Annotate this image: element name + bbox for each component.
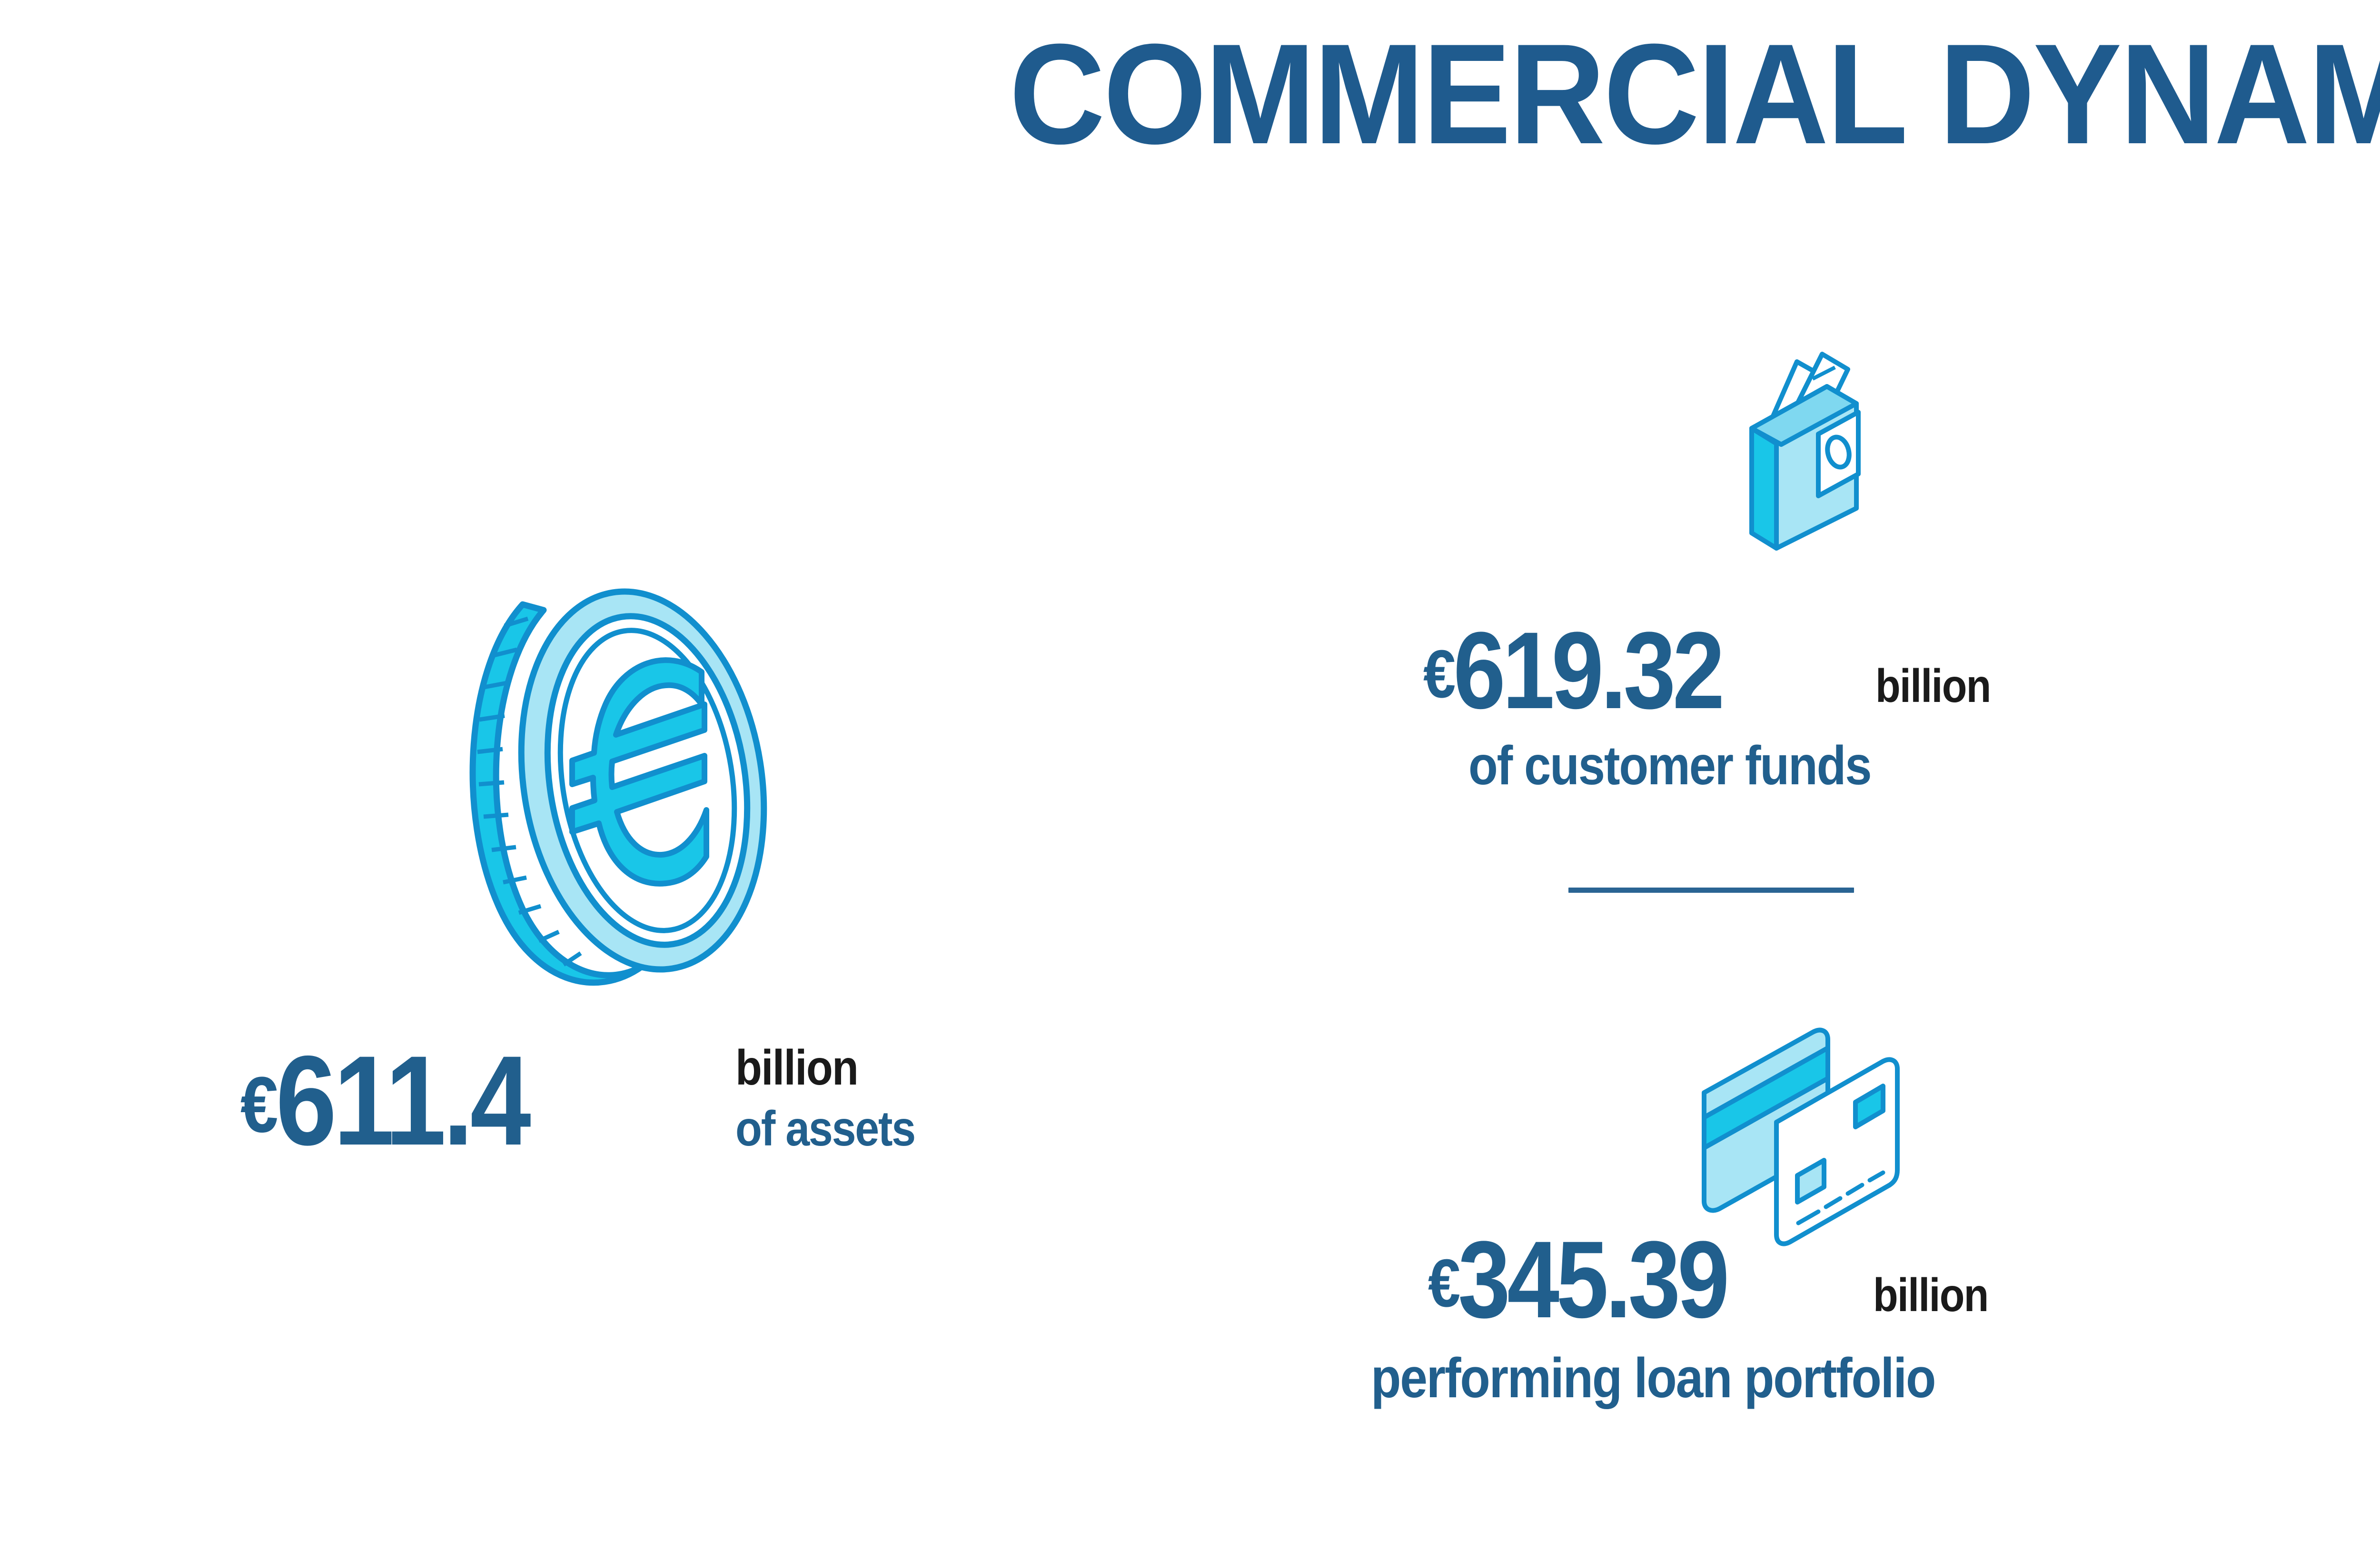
loan-portfolio-unit-wrap: billion bbox=[1873, 1268, 2004, 1322]
loan-portfolio-amount: 345.39 bbox=[1458, 1218, 1726, 1341]
assets-value: €611.4 bbox=[240, 1040, 575, 1161]
customer-funds-value: €619.32 bbox=[1423, 619, 1770, 723]
divider-center bbox=[1568, 888, 1854, 893]
credit-cards-icon bbox=[1676, 999, 1942, 1247]
wallet-icon bbox=[1699, 333, 1899, 571]
assets-unit: billion bbox=[735, 1040, 915, 1096]
loan-category-businesses: Businesses €27.70billion bbox=[2351, 1037, 2380, 1382]
storefront-icon bbox=[2351, 1037, 2380, 1214]
euro-symbol: € bbox=[240, 1061, 276, 1149]
page-title: COMMERCIAL DYNAMISM bbox=[128, 19, 2380, 169]
euro-symbol: € bbox=[1423, 636, 1453, 712]
customer-funds-unit-wrap: billion bbox=[1875, 659, 2006, 713]
loan-portfolio-label: performing loan portfolio bbox=[1371, 1347, 1935, 1410]
new-loan-production-group: Businesses €27.70billion bbox=[2351, 1037, 2380, 1518]
loan-category-label: Businesses bbox=[2370, 1217, 2380, 1282]
loan-category-amount: €27.70billion bbox=[2373, 1296, 2380, 1382]
customer-funds-label: of customer funds bbox=[1468, 735, 1871, 797]
customer-funds-label-wrap: of customer funds bbox=[1468, 735, 1926, 797]
euro-coin-icon bbox=[419, 547, 800, 995]
loan-portfolio-unit: billion bbox=[1873, 1268, 1988, 1322]
assets-caption: billion of assets bbox=[735, 1040, 939, 1156]
assets-amount: 611.4 bbox=[276, 1029, 528, 1172]
customer-funds-unit: billion bbox=[1875, 659, 1991, 713]
customer-funds-amount: 619.32 bbox=[1453, 609, 1722, 731]
euro-symbol: € bbox=[1428, 1245, 1458, 1321]
loan-portfolio-value: €345.39 bbox=[1428, 1228, 1775, 1332]
assets-label: of assets bbox=[735, 1101, 915, 1156]
infographic-canvas: COMMERCIAL DYNAMISM bbox=[0, 0, 2380, 1550]
loan-portfolio-label-wrap: performing loan portfolio bbox=[1371, 1347, 2012, 1410]
